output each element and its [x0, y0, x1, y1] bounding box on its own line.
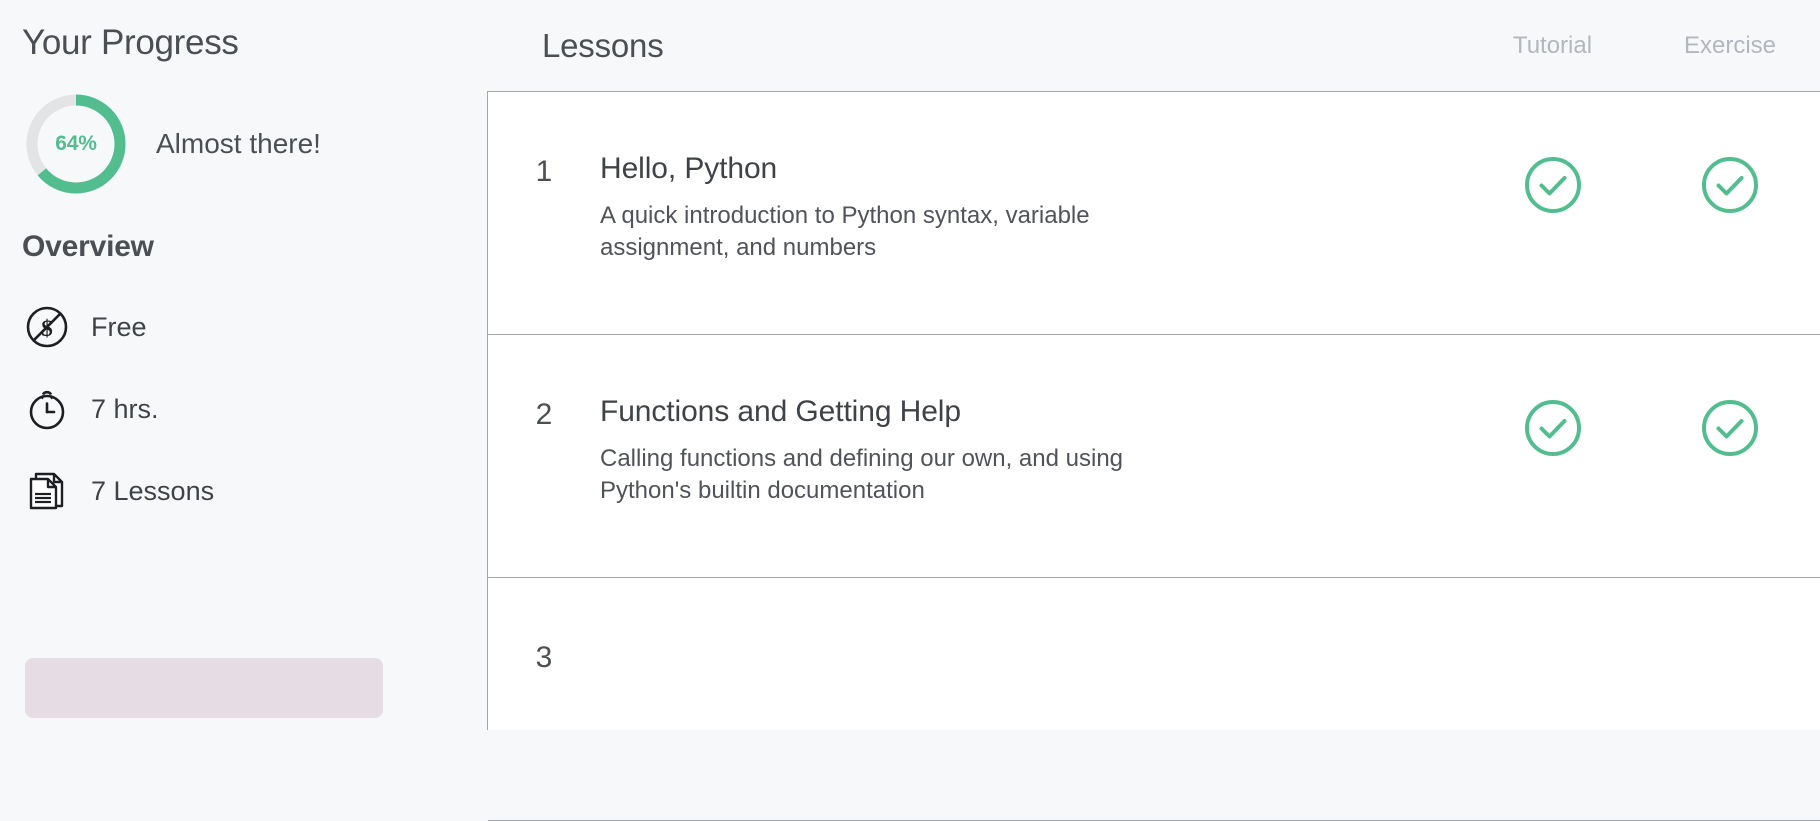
lesson-status-group — [1465, 335, 1820, 577]
lessons-table: 1 Hello, Python A quick introduction to … — [487, 91, 1820, 730]
overview-list: $ Free 7 hrs. — [22, 286, 487, 532]
lessons-heading: Lessons — [542, 26, 664, 66]
check-circle-icon — [1522, 397, 1584, 459]
lesson-title[interactable]: Hello, Python — [600, 150, 1200, 188]
promo-banner[interactable] — [25, 658, 383, 718]
overview-item-duration: 7 hrs. — [22, 368, 487, 450]
progress-donut: 64% — [22, 90, 130, 198]
lesson-content: Hello, Python A quick introduction to Py… — [600, 92, 1220, 264]
svg-text:$: $ — [41, 316, 53, 341]
lesson-status-group — [1465, 92, 1820, 334]
check-circle-icon — [1522, 154, 1584, 216]
lesson-description: Calling functions and defining our own, … — [600, 443, 1160, 507]
overview-heading: Overview — [22, 198, 487, 266]
progress-percent-label: 64% — [22, 90, 130, 198]
lesson-description: A quick introduction to Python syntax, v… — [600, 200, 1160, 264]
lesson-number: 2 — [488, 335, 600, 432]
overview-item-lessons: 7 Lessons — [22, 450, 487, 532]
course-page: Your Progress 64% Almost there! Overview… — [0, 0, 1820, 690]
lesson-title[interactable]: Functions and Getting Help — [600, 393, 1200, 431]
lesson-content — [600, 578, 1220, 648]
lesson-row[interactable]: 1 Hello, Python A quick introduction to … — [488, 92, 1820, 335]
progress-summary: 64% Almost there! — [22, 90, 487, 198]
check-circle-icon — [1699, 154, 1761, 216]
lessons-panel: Lessons Tutorial Exercise 1 Hello, Pytho… — [487, 0, 1820, 690]
overview-item-label: 7 Lessons — [91, 475, 214, 507]
lesson-row[interactable]: 3 — [488, 578, 1820, 821]
overview-item-label: Free — [91, 311, 147, 343]
progress-message: Almost there! — [156, 127, 321, 161]
lesson-number: 1 — [488, 92, 600, 189]
exercise-status-cell[interactable] — [1640, 397, 1820, 459]
page-title: Your Progress — [22, 0, 487, 64]
sidebar: Your Progress 64% Almost there! Overview… — [0, 0, 487, 690]
lesson-number: 3 — [488, 578, 600, 675]
lesson-content: Functions and Getting Help Calling funct… — [600, 335, 1220, 507]
lessons-header: Lessons Tutorial Exercise — [487, 0, 1820, 91]
exercise-status-cell[interactable] — [1640, 154, 1820, 216]
column-header-tutorial: Tutorial — [1465, 31, 1640, 61]
stopwatch-icon — [22, 384, 72, 434]
lesson-row[interactable]: 2 Functions and Getting Help Calling fun… — [488, 335, 1820, 578]
overview-item-free: $ Free — [22, 286, 487, 368]
no-cost-dollar-icon: $ — [22, 302, 72, 352]
column-header-exercise: Exercise — [1640, 31, 1820, 61]
overview-item-label: 7 hrs. — [91, 393, 159, 425]
check-circle-icon — [1699, 397, 1761, 459]
column-headers: Tutorial Exercise — [1465, 0, 1820, 91]
tutorial-status-cell[interactable] — [1465, 397, 1640, 459]
tutorial-status-cell[interactable] — [1465, 154, 1640, 216]
documents-icon — [22, 466, 72, 516]
